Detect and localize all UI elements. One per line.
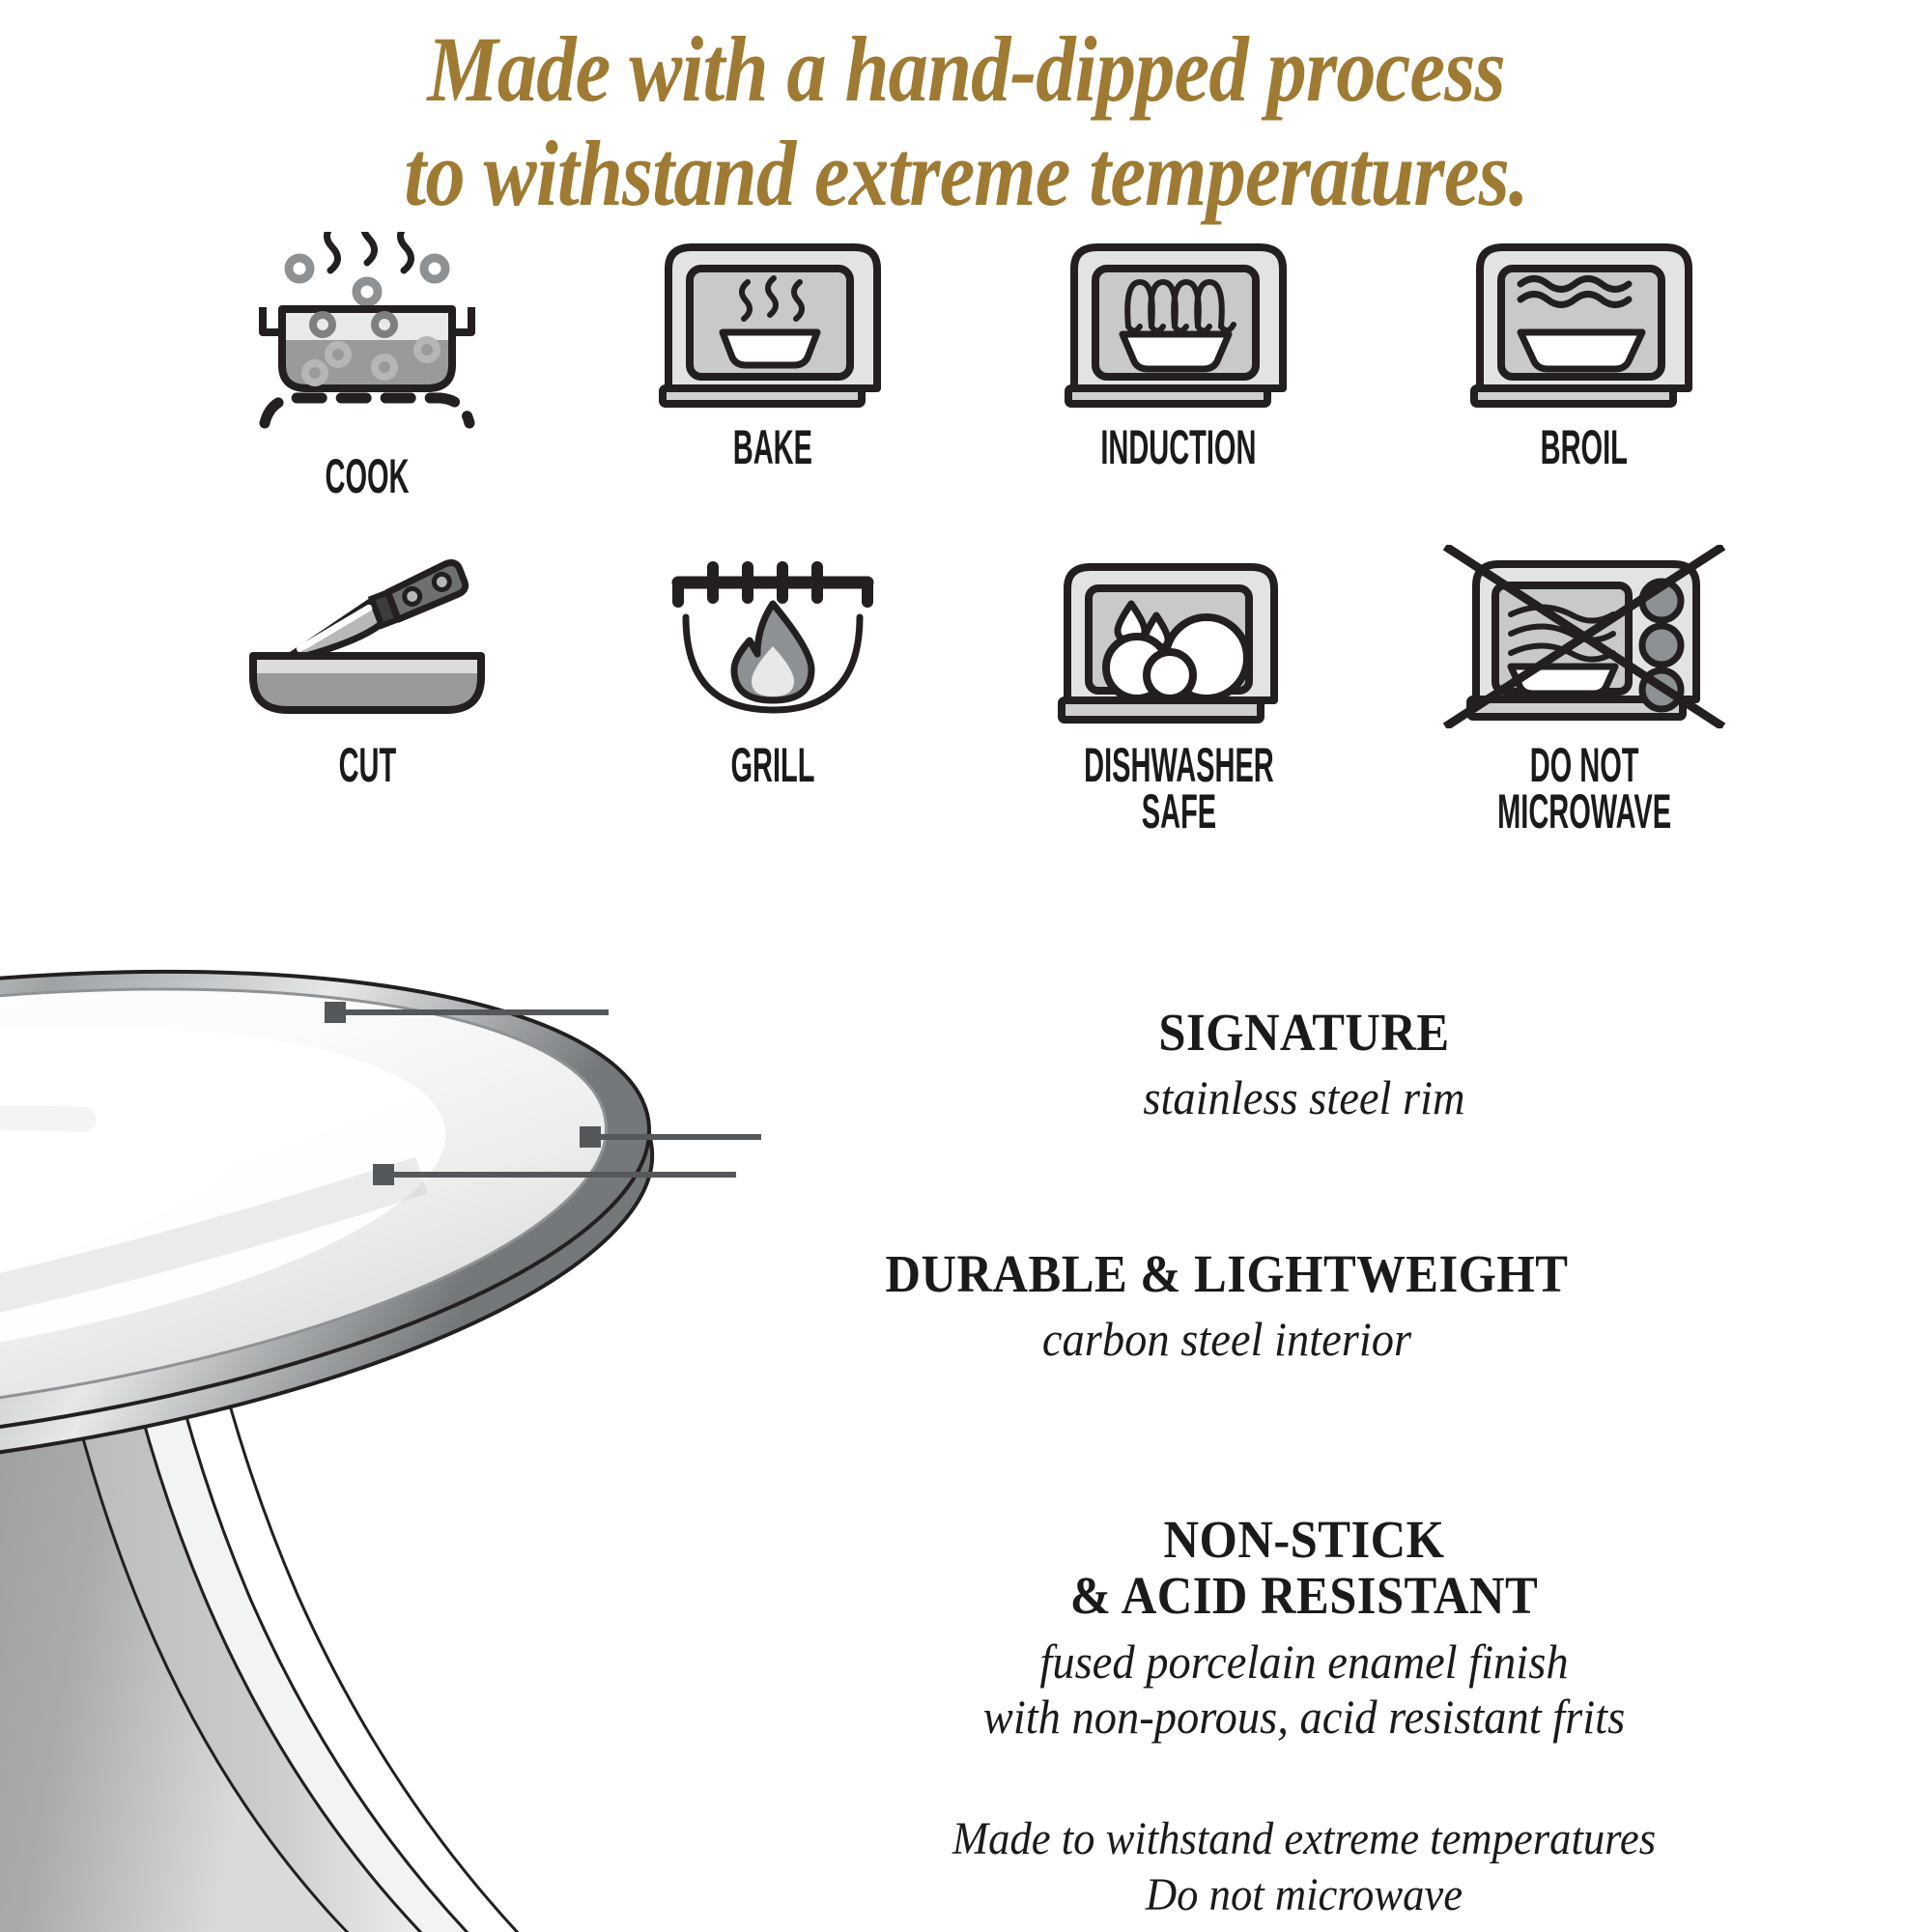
oven-induction-coil-icon bbox=[1053, 232, 1304, 411]
infographic-canvas: Made with a hand-dipped process to withs… bbox=[0, 0, 1932, 1932]
callout-nonstick-subtitle: fused porcelain enamel finish with non-p… bbox=[774, 1634, 1833, 1745]
feature-icon-grid: COOK BA bbox=[164, 232, 1787, 835]
callout-durable-subtitle: carbon steel interior bbox=[696, 1312, 1756, 1367]
feature-do-not-microwave-label: DO NOT MICROWAVE bbox=[1497, 742, 1671, 835]
callout-durable: DURABLE & LIGHTWEIGHT carbon steel inter… bbox=[657, 1246, 1797, 1367]
feature-cook-label: COOK bbox=[326, 453, 410, 499]
grill-grate-flame-icon bbox=[657, 550, 889, 728]
callout-signature-subtitle: stainless steel rim bbox=[774, 1070, 1833, 1125]
oven-broil-waves-icon bbox=[1459, 232, 1710, 411]
knife-over-dish-icon bbox=[232, 550, 502, 728]
microwave-crossed-out-icon bbox=[1439, 550, 1729, 728]
callout-nonstick-title: NON-STICK & ACID RESISTANT bbox=[780, 1512, 1829, 1625]
dishwasher-plates-droplets-icon bbox=[1048, 550, 1309, 728]
feature-bake[interactable]: BAKE bbox=[570, 232, 976, 470]
feature-induction[interactable]: INDUCTION bbox=[976, 232, 1381, 470]
pot-boiling-icon bbox=[222, 232, 512, 440]
feature-cut-label: CUT bbox=[338, 742, 396, 788]
feature-induction-label: INDUCTION bbox=[1100, 424, 1256, 470]
feature-bake-label: BAKE bbox=[733, 424, 812, 470]
headline-line-2: to withstand extreme temperatures. bbox=[135, 122, 1797, 226]
oven-bake-icon bbox=[647, 232, 898, 411]
page-title: Made with a hand-dipped process to withs… bbox=[135, 17, 1797, 225]
feature-grill[interactable]: GRILL bbox=[570, 550, 976, 788]
callout-durable-title: DURABLE & LIGHTWEIGHT bbox=[702, 1246, 1751, 1302]
feature-broil-label: BROIL bbox=[1541, 424, 1628, 470]
callout-signature: SIGNATURE stainless steel rim bbox=[734, 1005, 1874, 1125]
footnote-text: Made to withstand extreme temperatures D… bbox=[774, 1811, 1833, 1922]
callout-signature-title: SIGNATURE bbox=[780, 1005, 1829, 1061]
pan-illustration bbox=[0, 816, 734, 1932]
feature-grill-label: GRILL bbox=[730, 742, 814, 788]
feature-cut[interactable]: CUT bbox=[164, 550, 570, 788]
feature-icon-row-2: CUT bbox=[164, 550, 1787, 835]
feature-icon-row-1: COOK BA bbox=[164, 232, 1787, 499]
feature-dishwasher-safe-label: DISHWASHER SAFE bbox=[1084, 742, 1274, 835]
headline-line-1: Made with a hand-dipped process bbox=[427, 17, 1504, 121]
feature-broil[interactable]: BROIL bbox=[1381, 232, 1787, 470]
callout-nonstick: NON-STICK & ACID RESISTANT fused porcela… bbox=[734, 1512, 1874, 1745]
feature-cook[interactable]: COOK bbox=[164, 232, 570, 499]
feature-dishwasher-safe[interactable]: DISHWASHER SAFE bbox=[976, 550, 1381, 835]
feature-do-not-microwave[interactable]: DO NOT MICROWAVE bbox=[1381, 550, 1787, 835]
